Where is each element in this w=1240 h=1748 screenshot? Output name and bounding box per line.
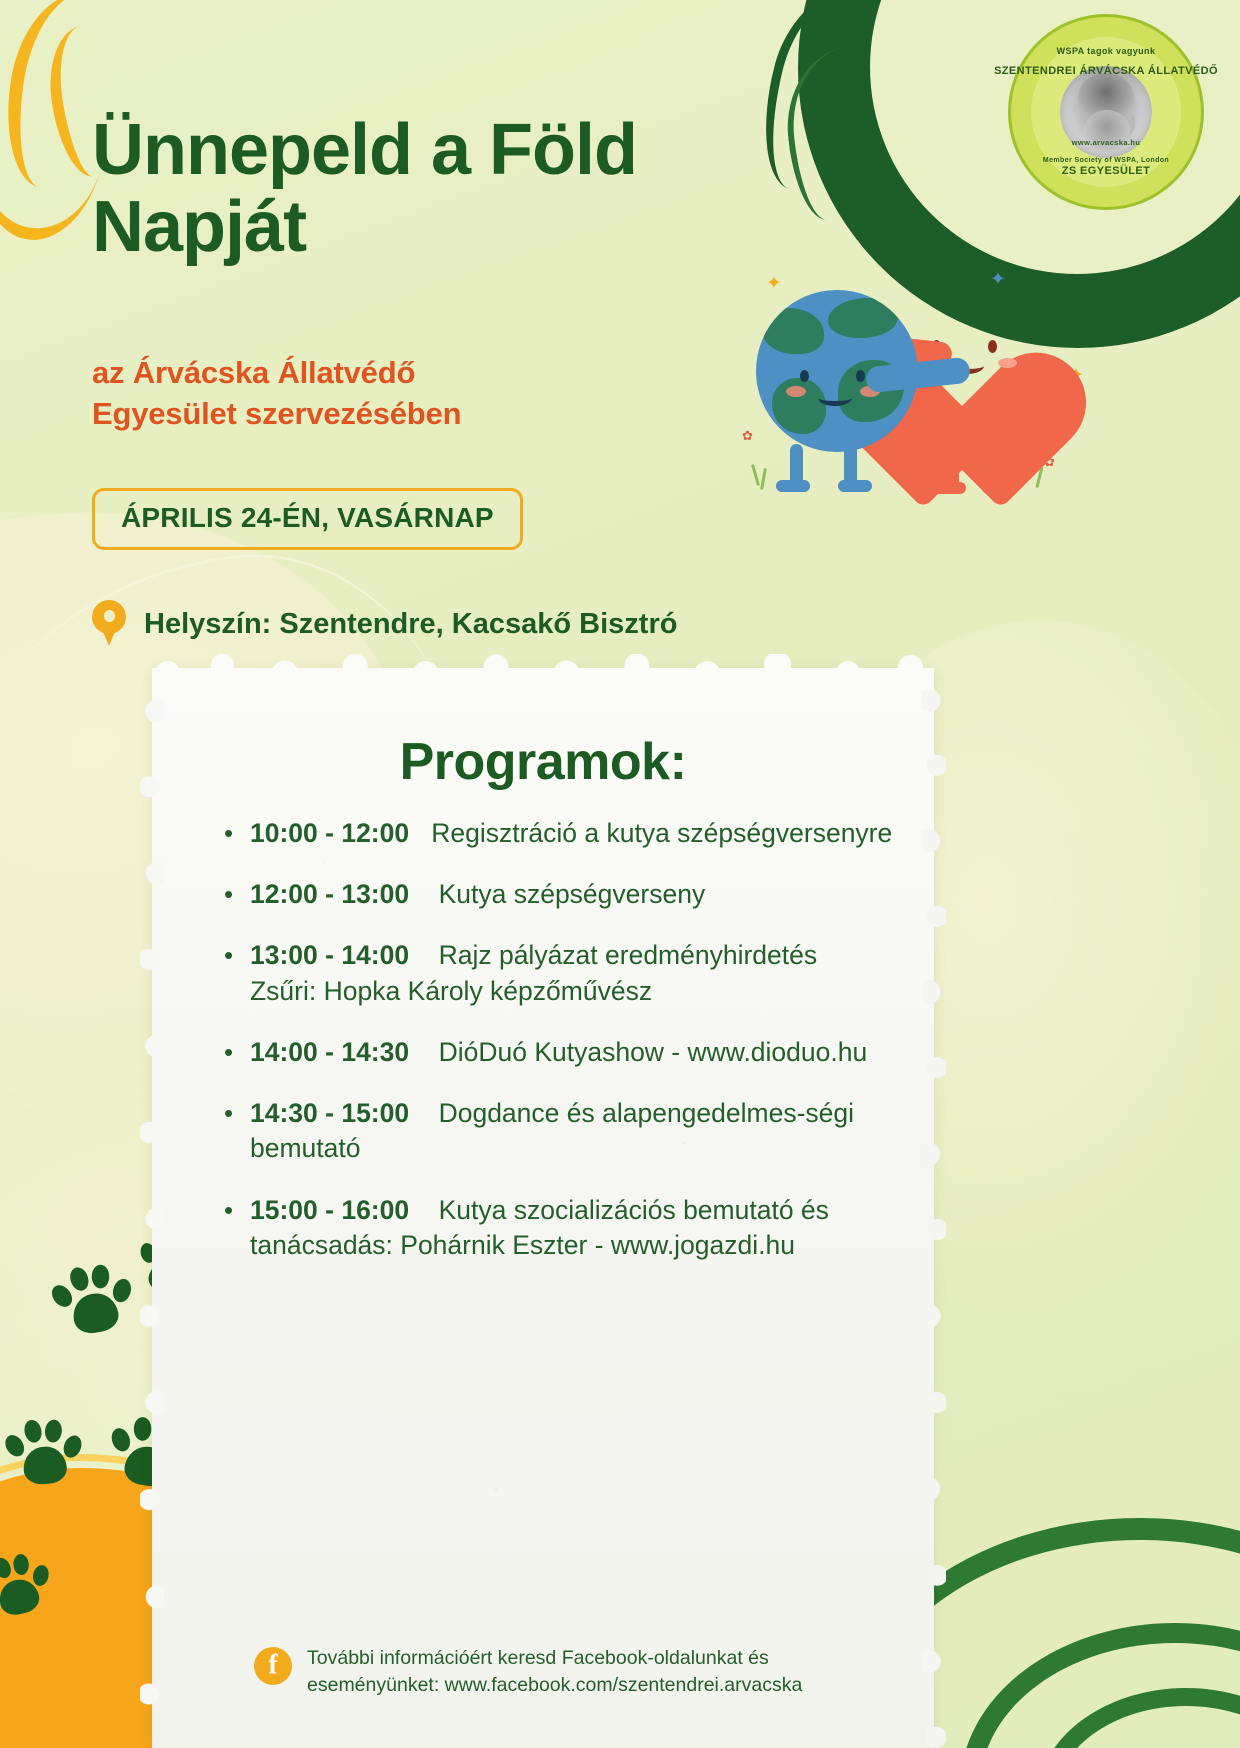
- grass-icon: [751, 464, 760, 486]
- program-description: DióDuó Kutyashow - www.dioduo.hu: [439, 1037, 868, 1067]
- venue-label: Helyszín: Szentendre, Kacsakő Bisztró: [144, 608, 677, 641]
- grass-icon: [760, 468, 767, 490]
- list-item: • 14:30 - 15:00 Dogdance és alapengedelm…: [224, 1096, 898, 1166]
- programs-list: • 10:00 - 12:00 Regisztráció a kutya szé…: [224, 816, 898, 1289]
- logo-ring-url: www.arvacska.hu: [1072, 138, 1141, 147]
- subtitle-line-1: az Árvácska Állatvédő: [92, 352, 461, 393]
- facebook-icon[interactable]: [254, 1647, 292, 1685]
- program-description: Regisztráció a kutya szépségversenyre: [431, 818, 892, 848]
- list-item: • 14:00 - 14:30 DióDuó Kutyashow - www.d…: [224, 1035, 898, 1070]
- logo-ring-text: WSPA tagok vagyunk SZENTENDREI ÁRVÁCSKA …: [1031, 37, 1181, 187]
- headline-line-1: Ünnepeld a Föld: [92, 110, 637, 190]
- program-time: 14:30 - 15:00: [250, 1098, 409, 1128]
- programs-paper-panel: Programok: • 10:00 - 12:00 Regisztráció …: [152, 668, 934, 1748]
- bullet-icon: •: [224, 877, 250, 912]
- list-item: • 10:00 - 12:00 Regisztráció a kutya szé…: [224, 816, 898, 851]
- bullet-icon: •: [224, 1035, 250, 1070]
- program-time: 15:00 - 16:00: [250, 1195, 409, 1225]
- list-item: • 15:00 - 16:00 Kutya szocializációs bem…: [224, 1193, 898, 1263]
- green-arc-decoration: [1036, 1688, 1240, 1748]
- bullet-icon: •: [224, 816, 250, 851]
- logo-ring-bottom: ZS EGYESÜLET: [1062, 165, 1151, 177]
- program-extra: Zsűri: Hopka Károly képzőművész: [250, 974, 898, 1009]
- program-description: Kutya szépségverseny: [439, 879, 706, 909]
- bullet-icon: •: [224, 938, 250, 1008]
- logo-ring-top: WSPA tagok vagyunk: [1057, 46, 1156, 56]
- bullet-icon: •: [224, 1193, 250, 1263]
- programs-heading: Programok:: [152, 732, 934, 792]
- yellow-squiggle-icon: [0, 139, 102, 252]
- program-time: 13:00 - 14:00: [250, 940, 409, 970]
- page-title: Ünnepeld a Föld Napját: [92, 112, 637, 266]
- program-time: 12:00 - 13:00: [250, 879, 409, 909]
- green-brush-stroke: [779, 43, 896, 223]
- headline-line-2: Napját: [92, 189, 637, 266]
- footer-contact: További információért keresd Facebook-ol…: [254, 1645, 894, 1700]
- association-logo: WSPA tagok vagyunk SZENTENDREI ÁRVÁCSKA …: [1008, 14, 1204, 210]
- flower-icon: ✿: [742, 428, 753, 444]
- paper-torn-edge: [140, 668, 164, 1748]
- poster-canvas: WSPA tagok vagyunk SZENTENDREI ÁRVÁCSKA …: [0, 0, 1240, 1748]
- logo-ring-main: SZENTENDREI ÁRVÁCSKA ÁLLATVÉDŐ: [994, 65, 1218, 77]
- subtitle: az Árvácska Állatvédő Egyesület szervezé…: [92, 352, 461, 434]
- green-arc-decoration: [960, 1623, 1240, 1748]
- list-item: • 13:00 - 14:00 Rajz pályázat eredményhi…: [224, 938, 898, 1008]
- sparkle-icon: ✦: [766, 272, 782, 295]
- program-description: Rajz pályázat eredményhirdetés: [439, 940, 818, 970]
- earth-foot: [838, 480, 872, 492]
- footer-text: További információért keresd Facebook-ol…: [307, 1645, 802, 1700]
- logo-inner-disc: WSPA tagok vagyunk SZENTENDREI ÁRVÁCSKA …: [1031, 37, 1181, 187]
- program-time: 10:00 - 12:00: [250, 818, 409, 848]
- earth-heart-illustration: ✦ ✦ ✦ ✿ ✿ ✿: [738, 268, 1098, 518]
- list-item: • 12:00 - 13:00 Kutya szépségverseny: [224, 877, 898, 912]
- logo-ring-member: Member Society of WSPA, London: [1043, 157, 1169, 164]
- earth-foot: [776, 480, 810, 492]
- venue-row: Helyszín: Szentendre, Kacsakő Bisztró: [92, 600, 677, 648]
- program-time: 14:00 - 14:30: [250, 1037, 409, 1067]
- subtitle-line-2: Egyesület szervezésében: [92, 393, 461, 434]
- footer-line-2: eseményünket: www.facebook.com/szentendr…: [307, 1674, 802, 1696]
- green-brush-stroke: [746, 0, 947, 215]
- bullet-icon: •: [224, 1096, 250, 1166]
- footer-line-1: További információért keresd Facebook-ol…: [307, 1647, 769, 1669]
- date-badge: ÁPRILIS 24-ÉN, VASÁRNAP: [92, 488, 523, 550]
- location-pin-icon: [92, 600, 126, 648]
